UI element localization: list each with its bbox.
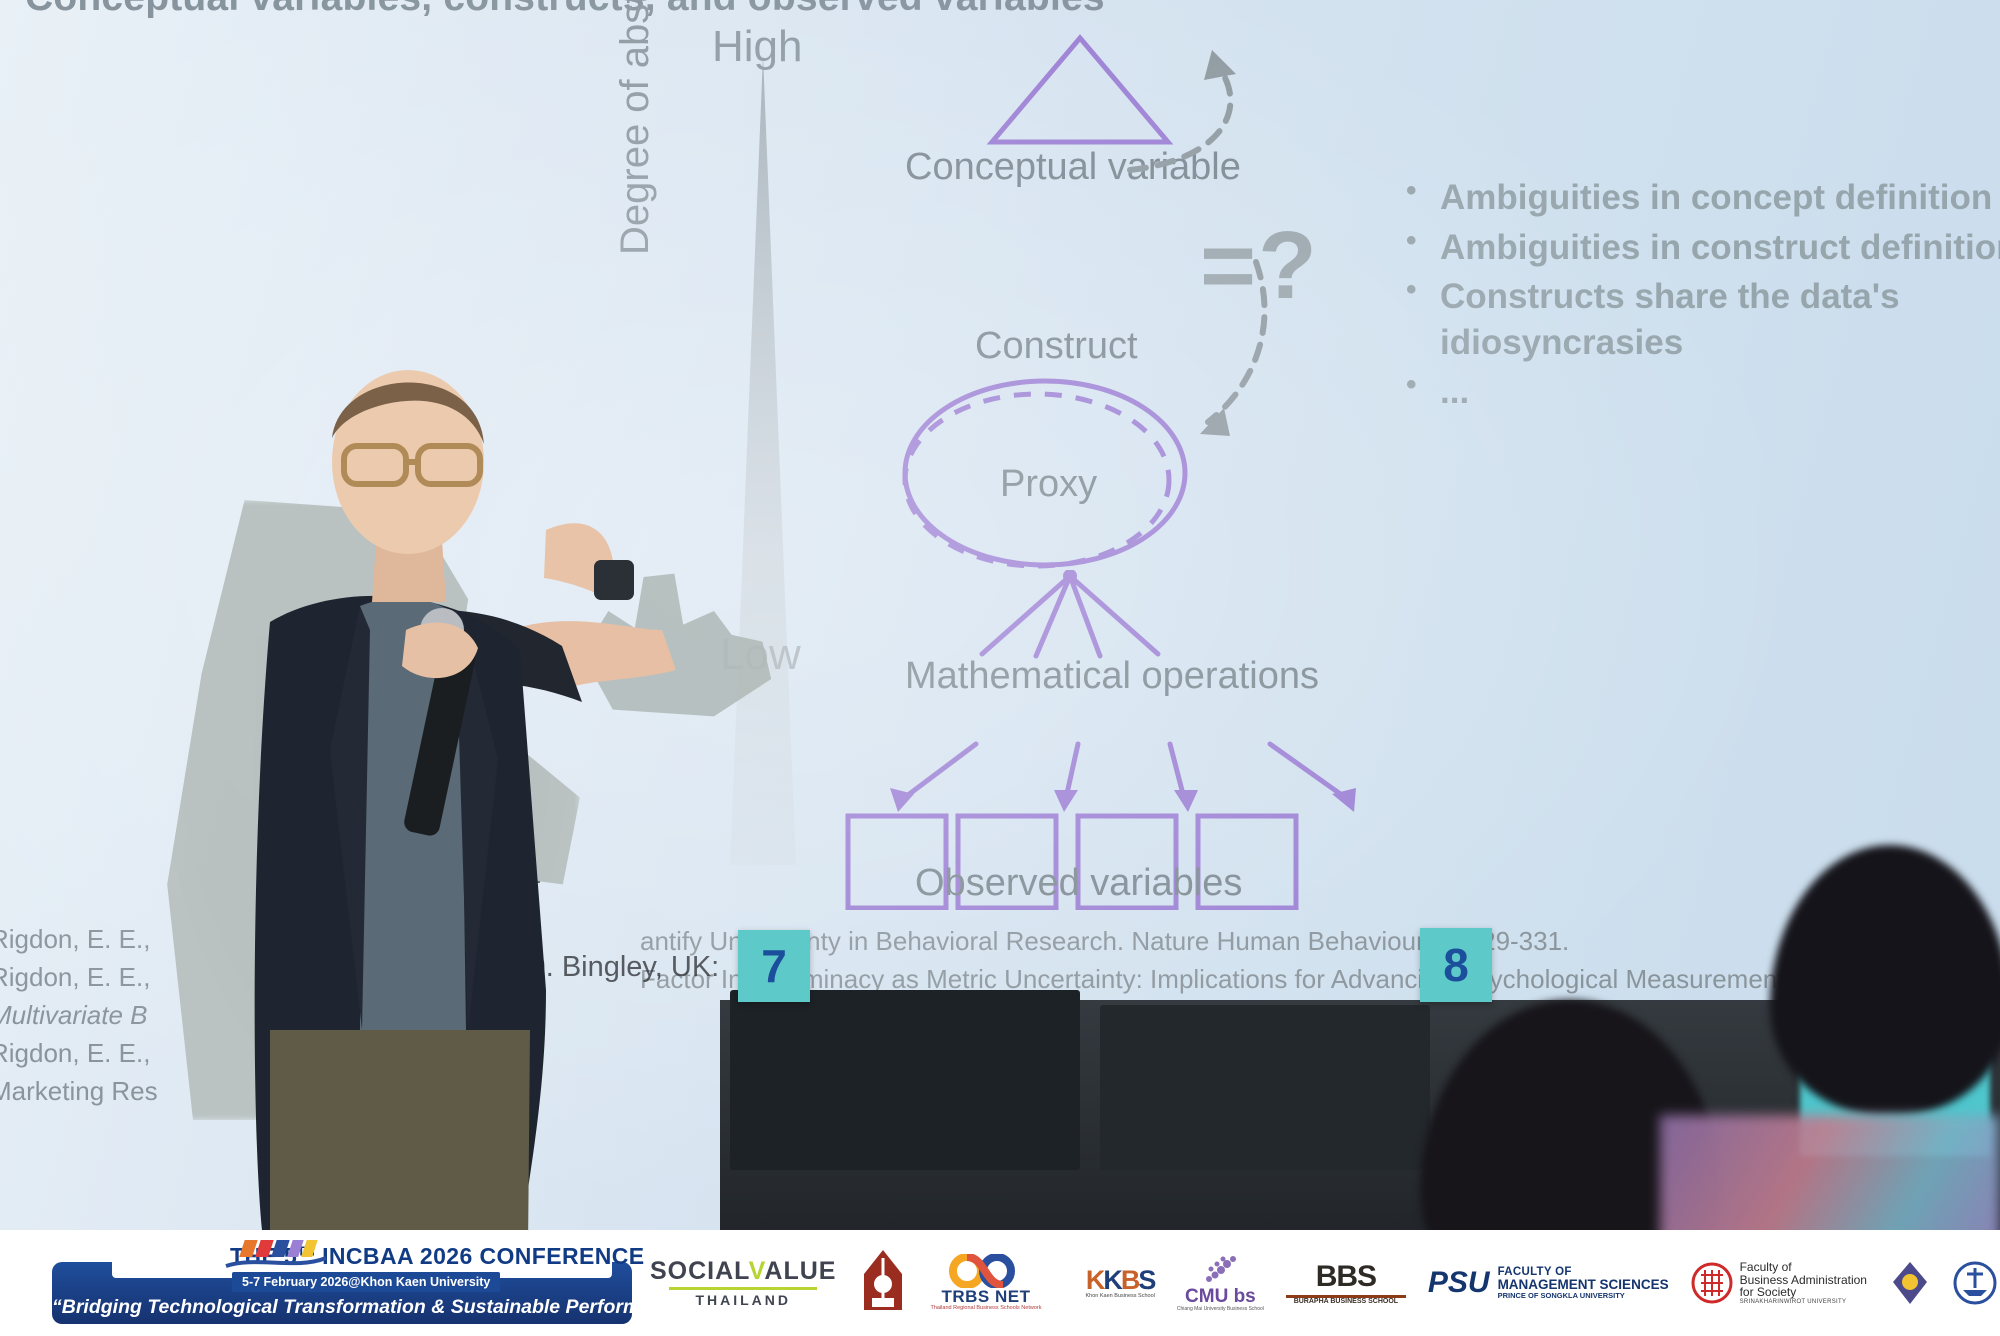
abstraction-gradient-wedge [700, 55, 830, 865]
equals-question-mark: =? [1200, 218, 1319, 314]
sponsor-logo-strip: SOCIALVALUE THAILAND TRBS NET [650, 1236, 1990, 1330]
label-construct: Construct [975, 325, 1138, 368]
sponsor-trbs-net: TRBS NET Thailand Regional Business Scho… [930, 1254, 1041, 1312]
sponsor-swu-business-administration: Faculty of Business Administration for S… [1691, 1261, 1867, 1305]
monitor-center [1100, 1005, 1430, 1170]
trbs-infinity-icon [945, 1254, 1027, 1288]
reference-line-5: Marketing Res [0, 1076, 158, 1106]
cmubs-dots-icon [1203, 1253, 1237, 1287]
sponsor-thammasat-seal [858, 1248, 908, 1318]
bullet-item-1: Ambiguities in concept definition [1400, 175, 2000, 221]
number-card-8: 8 [1420, 928, 1492, 1002]
university-seal-2-icon [1953, 1260, 1997, 1306]
presenter-photo [210, 330, 690, 1250]
number-card-7: 7 [738, 930, 810, 1002]
thammasat-seal-icon [858, 1248, 908, 1318]
reference-line-1: Rigdon, E. E., [0, 924, 150, 954]
axis-high-label: High [712, 22, 803, 72]
university-seal-1-icon [1889, 1260, 1931, 1306]
bullet-item-4: ... [1400, 369, 2000, 415]
sponsor-psu-management-sciences: PSU FACULTY OF MANAGEMENT SCIENCES PRINC… [1428, 1266, 1669, 1300]
conference-date-venue: 5-7 February 2026@Khon Kaen University [232, 1272, 500, 1292]
conference-banner: THE 5TH INCBAA 2026 CONFERENCE 5-7 Febru… [0, 1230, 2000, 1336]
label-proxy: Proxy [1000, 463, 1097, 506]
sponsor-cmubs: CMU bs Chiang Mai University Business Sc… [1177, 1253, 1264, 1312]
proxy-to-operations-fan [960, 570, 1180, 665]
sponsor-university-seal-2 [1953, 1260, 1997, 1306]
slide-title: Conceptual variables, constructs, and ob… [25, 0, 1325, 20]
monitor-left [730, 990, 1080, 1170]
reference-line-3: Multivariate B [0, 1000, 148, 1030]
sponsor-burapha-business-school: BBS BURAPHA BUSINESS SCHOOL [1286, 1261, 1406, 1305]
sponsor-social-value-thailand: SOCIALVALUE THAILAND [650, 1258, 836, 1308]
screenshot-root: Conceptual variables, constructs, and ob… [0, 0, 2000, 1336]
sponsor-kkbs: KKBS Khon Kaen Business School [1085, 1266, 1154, 1300]
axis-label-degree-of-abstraction: Degree of abstraction [613, 0, 658, 255]
reference-line-4: Rigdon, E. E., [0, 1038, 150, 1068]
conference-tagline: “Bridging Technological Transformation &… [52, 1296, 632, 1319]
incbaa-logo-icon [220, 1236, 330, 1274]
reference-line-2: Rigdon, E. E., [0, 962, 150, 992]
bullet-item-2: Ambiguities in construct definition [1400, 225, 2000, 271]
label-mathematical-operations: Mathematical operations [905, 655, 1319, 698]
swu-seal-icon [1691, 1262, 1733, 1304]
sponsor-university-seal-1 [1889, 1260, 1931, 1306]
conference-identity-block: THE 5TH INCBAA 2026 CONFERENCE 5-7 Febru… [52, 1234, 632, 1332]
bullet-item-3: Constructs share the data's idiosyncrasi… [1400, 274, 2000, 365]
key-issues-bullet-list: Ambiguities in concept definition Ambigu… [1400, 175, 2000, 419]
